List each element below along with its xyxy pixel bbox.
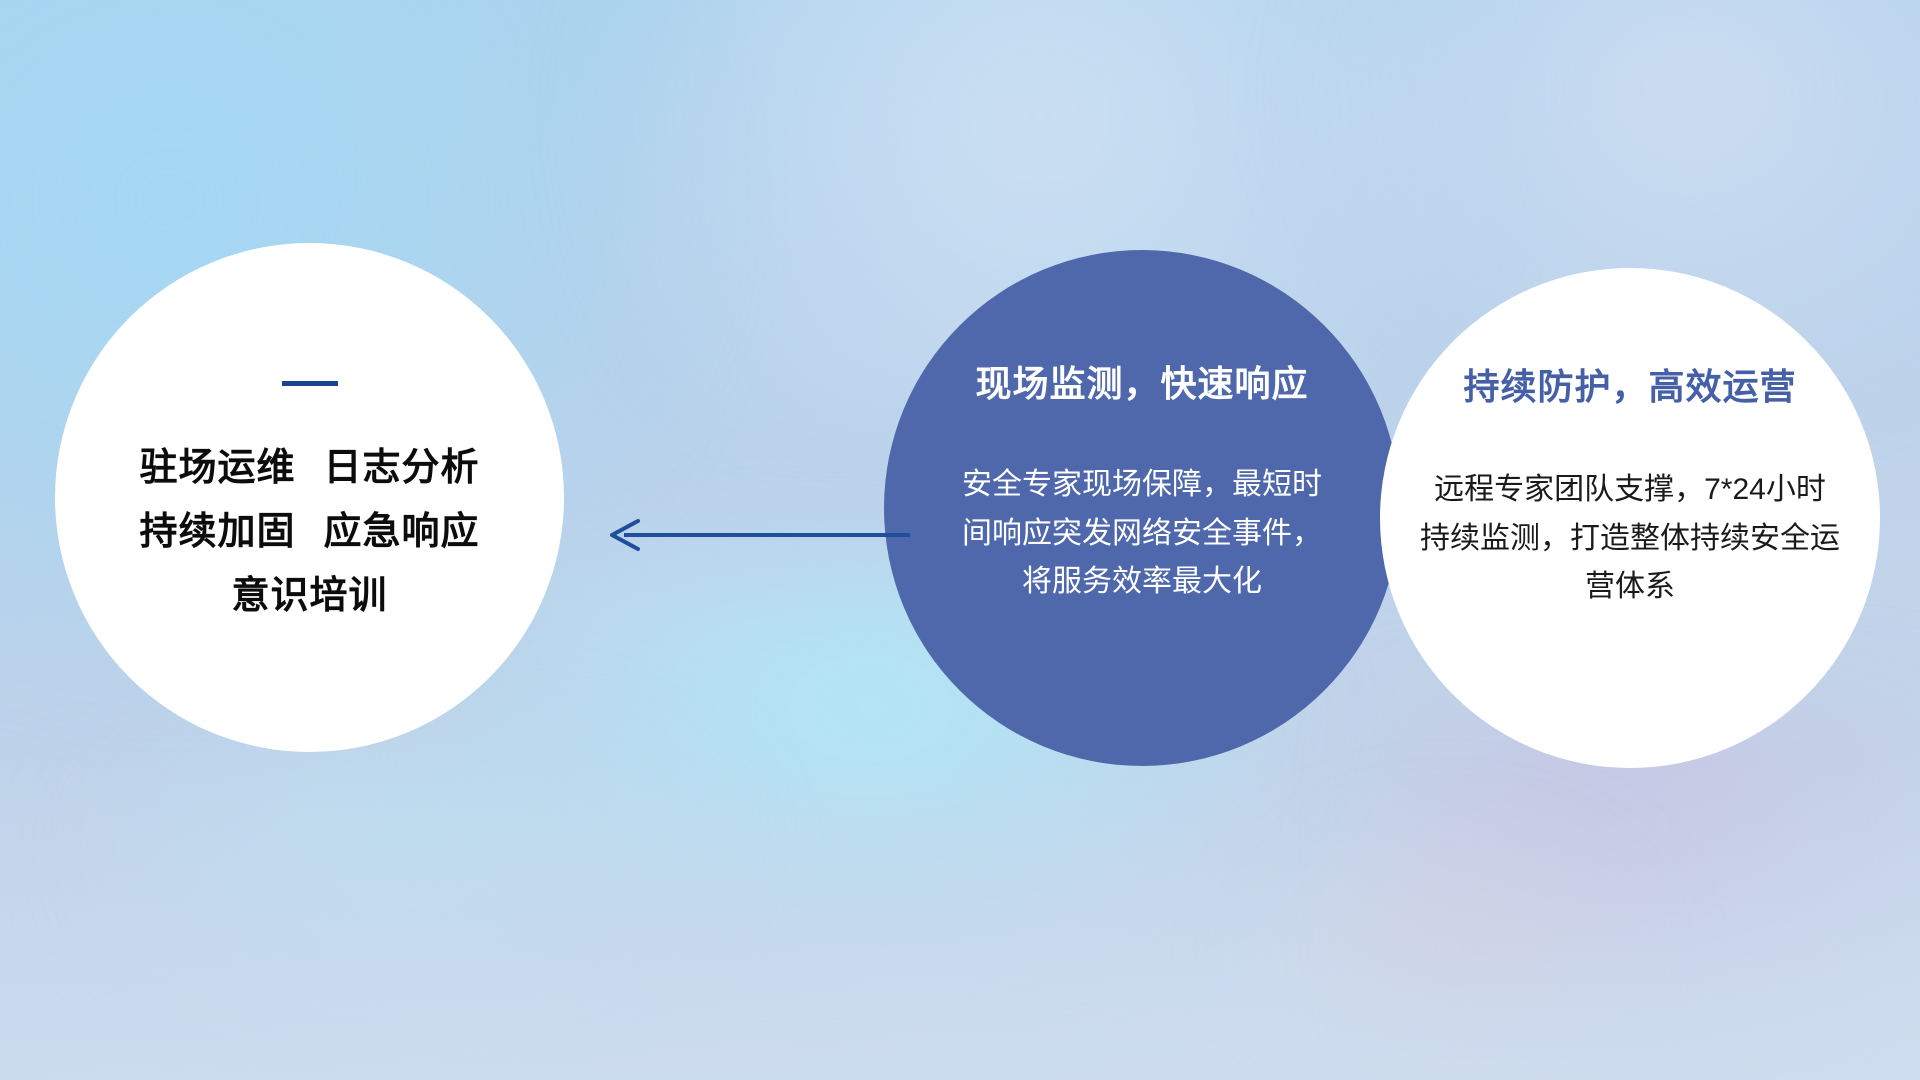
onsite-monitoring-title: 现场监测，快速响应 — [975, 362, 1308, 405]
onsite-monitoring-content: 现场监测，快速响应 安全专家现场保障，最短时间响应突发网络安全事件，将服务效率最… — [884, 250, 1400, 766]
flow-arrow-left — [600, 515, 910, 555]
capabilities-content: 驻场运维日志分析 持续加固应急响应 意识培训 — [55, 243, 564, 752]
capability-row: 驻场运维日志分析 — [139, 448, 479, 490]
capability-item: 驻场运维 — [139, 447, 295, 489]
onsite-monitoring-body: 安全专家现场保障，最短时间响应突发网络安全事件，将服务效率最大化 — [962, 461, 1322, 607]
capability-item: 意识培训 — [231, 575, 387, 617]
background-haze-bottom — [0, 760, 1920, 1080]
continuous-protection-content: 持续防护，高效运营 远程专家团队支撑，7*24小时持续监测，打造整体持续安全运营… — [1380, 268, 1880, 768]
capabilities-list: 驻场运维日志分析 持续加固应急响应 意识培训 — [139, 448, 479, 617]
capability-row: 持续加固应急响应 — [139, 512, 479, 554]
capability-row: 意识培训 — [231, 576, 387, 618]
continuous-protection-title: 持续防护，高效运营 — [1463, 365, 1796, 408]
capability-item: 持续加固 — [139, 511, 295, 553]
capability-item: 日志分析 — [324, 447, 480, 489]
continuous-protection-body: 远程专家团队支撑，7*24小时持续监测，打造整体持续安全运营体系 — [1420, 466, 1840, 612]
slide-canvas: 驻场运维日志分析 持续加固应急响应 意识培训 现场监测，快速响应 安全专家现场保… — [0, 0, 1920, 1080]
accent-rule — [282, 381, 338, 386]
capability-item: 应急响应 — [324, 511, 480, 553]
